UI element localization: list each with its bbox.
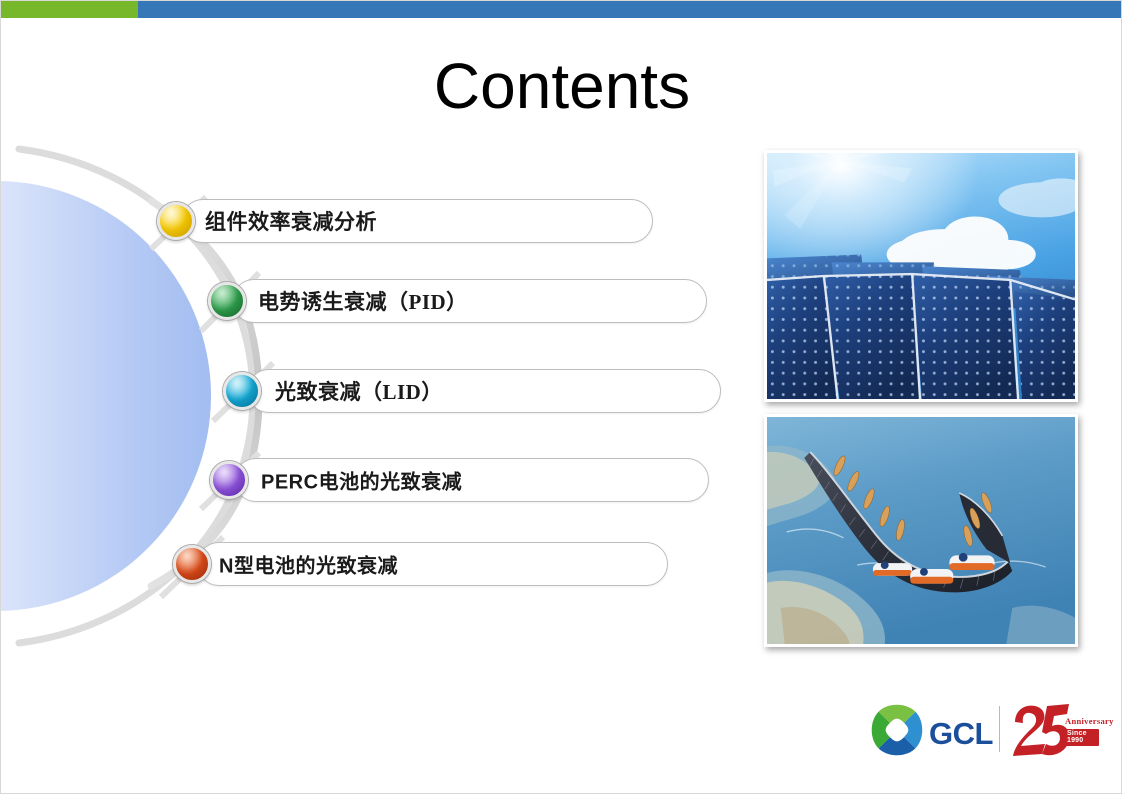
anniversary-word: Anniversary: [1065, 716, 1114, 726]
bullet-purple: [210, 461, 248, 499]
page-title: Contents: [1, 53, 1122, 120]
solar-powered-aircraft-photo: [764, 414, 1078, 647]
solar-aircraft-graphic: [767, 417, 1075, 644]
bullet-green: [208, 282, 246, 320]
solar-panel-array-graphic: [767, 153, 1075, 399]
bullet-gold: [157, 202, 195, 240]
topbar-blue-segment: [138, 1, 1122, 18]
topbar-green-segment: [1, 1, 138, 18]
contents-item-1[interactable]: 组件效率衰减分析: [157, 199, 653, 243]
contents-label-5: N型电池的光致衰减: [219, 550, 398, 579]
bullet-gloss: [226, 375, 258, 407]
bullet-cyan: [223, 372, 261, 410]
contents-item-5[interactable]: N型电池的光致衰减: [173, 542, 668, 586]
logo-divider: [999, 706, 1000, 752]
bullet-gloss: [176, 548, 208, 580]
contents-label-1: 组件效率衰减分析: [205, 206, 377, 236]
slide-canvas: Contents: [0, 0, 1122, 794]
contents-item-2[interactable]: 电势诱生衰减（PID）: [208, 279, 707, 323]
bullet-gloss: [211, 285, 243, 317]
contents-item-4[interactable]: PERC电池的光致衰减: [210, 458, 709, 502]
bullet-gloss: [213, 464, 245, 496]
contents-label-3: 光致衰减（LID）: [275, 376, 443, 406]
bullet-orange: [173, 545, 211, 583]
anniversary-since: Since 1990: [1061, 729, 1099, 746]
gcl-anniversary-logo: GCL Anniversary Since 1990: [869, 698, 1099, 760]
contents-label-2: 电势诱生衰减（PID）: [258, 286, 468, 316]
bullet-gloss: [160, 205, 192, 237]
gcl-wordmark: GCL: [929, 716, 993, 752]
solar-panel-array-photo: [764, 150, 1078, 402]
contents-label-4: PERC电池的光致衰减: [261, 466, 462, 495]
gcl-mark-icon: [869, 702, 925, 758]
contents-item-3[interactable]: 光致衰减（LID）: [223, 369, 721, 413]
